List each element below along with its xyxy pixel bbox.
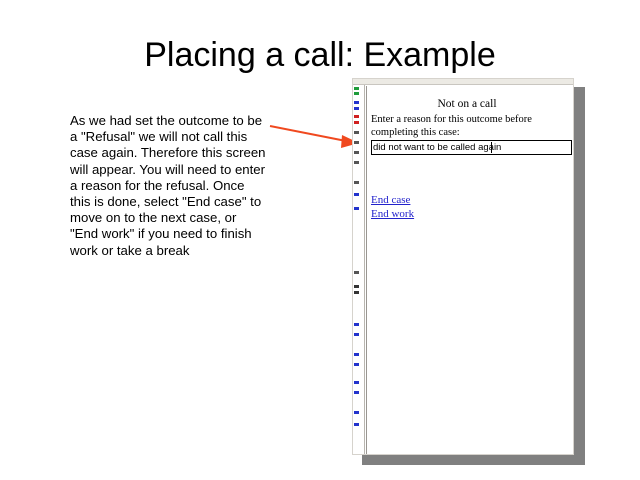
sliver-text-fragment <box>354 391 359 394</box>
page-title: Placing a call: Example <box>0 36 640 75</box>
sliver-text-fragment <box>354 323 359 326</box>
sliver-text-fragment <box>354 353 359 356</box>
presentation-slide: Placing a call: Example As we had set th… <box>0 0 640 480</box>
end-work-link[interactable]: End work <box>371 208 414 220</box>
sliver-text-fragment <box>354 333 359 336</box>
embedded-app-screenshot: Not on a call Enter a reason for this ou… <box>352 78 585 465</box>
end-case-link[interactable]: End case <box>371 194 410 206</box>
sliver-text-fragment <box>354 271 359 274</box>
sliver-text-fragment <box>354 115 359 118</box>
sliver-text-fragment <box>354 423 359 426</box>
sliver-text-fragment <box>354 181 359 184</box>
sliver-text-fragment <box>354 121 359 124</box>
sliver-text-fragment <box>354 193 359 196</box>
sliver-text-fragment <box>354 101 359 104</box>
sliver-text-fragment <box>354 161 359 164</box>
window-chrome-strip <box>353 79 574 85</box>
panel-heading: Not on a call <box>367 98 567 110</box>
panel-instruction-text: Enter a reason for this outcome before c… <box>371 113 571 139</box>
sliver-text-fragment <box>354 291 359 294</box>
sliver-text-fragment <box>354 87 359 90</box>
text-caret <box>491 142 492 153</box>
sliver-text-fragment <box>354 92 359 95</box>
not-on-a-call-page: Not on a call Enter a reason for this ou… <box>366 86 574 455</box>
pointer-arrow-icon <box>262 112 366 158</box>
sliver-text-fragment <box>354 381 359 384</box>
sliver-text-fragment <box>354 207 359 210</box>
sliver-text-fragment <box>354 285 359 288</box>
sliver-text-fragment <box>354 151 359 154</box>
screenshot-window-frame: Not on a call Enter a reason for this ou… <box>352 78 574 455</box>
sliver-text-fragment <box>354 131 359 134</box>
slide-body-text: As we had set the outcome to be a "Refus… <box>70 113 266 259</box>
sliver-text-fragment <box>354 141 359 144</box>
sliver-text-fragment <box>354 411 359 414</box>
sliver-text-fragment <box>354 363 359 366</box>
sliver-text-fragment <box>354 107 359 110</box>
reason-input[interactable]: did not want to be called again <box>371 140 572 155</box>
background-page-sliver <box>353 85 365 455</box>
